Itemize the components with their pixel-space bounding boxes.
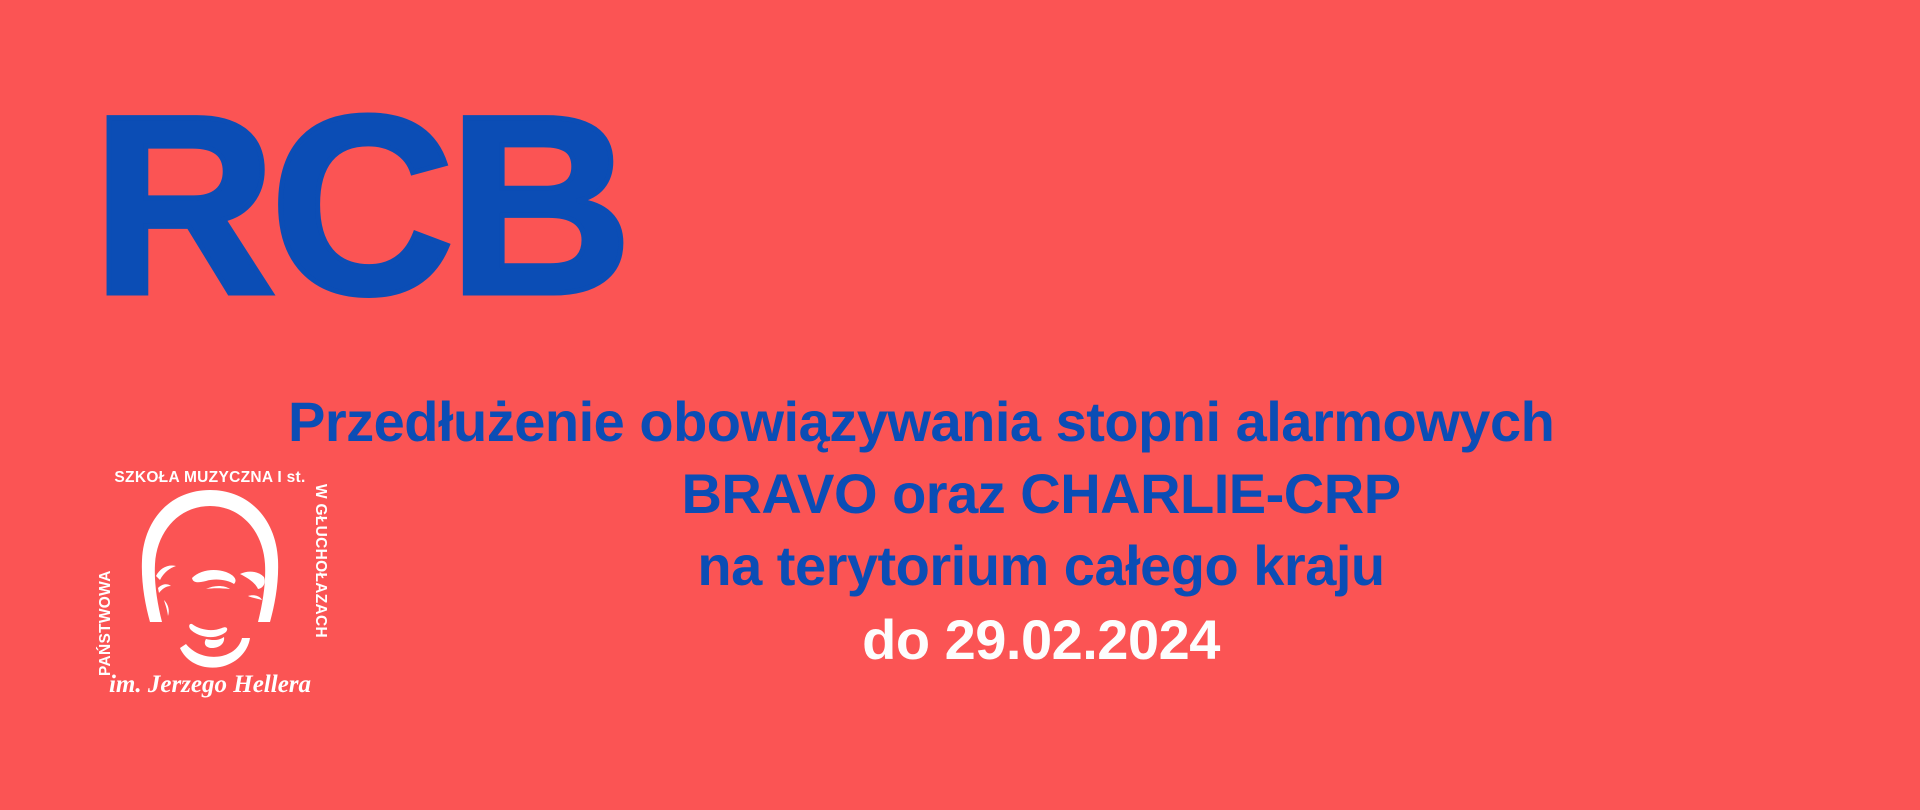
- alert-message-line-3: na terytorium całego kraju: [288, 530, 1794, 602]
- portrait-icon: [142, 490, 278, 668]
- alert-message-deadline: do 29.02.2024: [288, 602, 1794, 676]
- alert-poster: RCB SZKOŁA MUZYCZNA I st. PAŃSTWOWA: [0, 0, 1920, 810]
- school-logo-bottom-text: im. Jerzego Hellera: [109, 671, 311, 698]
- alert-message-line-2: BRAVO oraz CHARLIE-CRP: [288, 458, 1794, 530]
- rcb-logo: RCB: [92, 78, 626, 333]
- school-logo-top-text: SZKOŁA MUZYCZNA I st.: [114, 469, 305, 486]
- alert-message: Przedłużenie obowiązywania stopni alarmo…: [288, 386, 1794, 676]
- school-logo-left-text: PAŃSTWOWA: [97, 570, 114, 676]
- alert-message-line-1: Przedłużenie obowiązywania stopni alarmo…: [288, 386, 1794, 458]
